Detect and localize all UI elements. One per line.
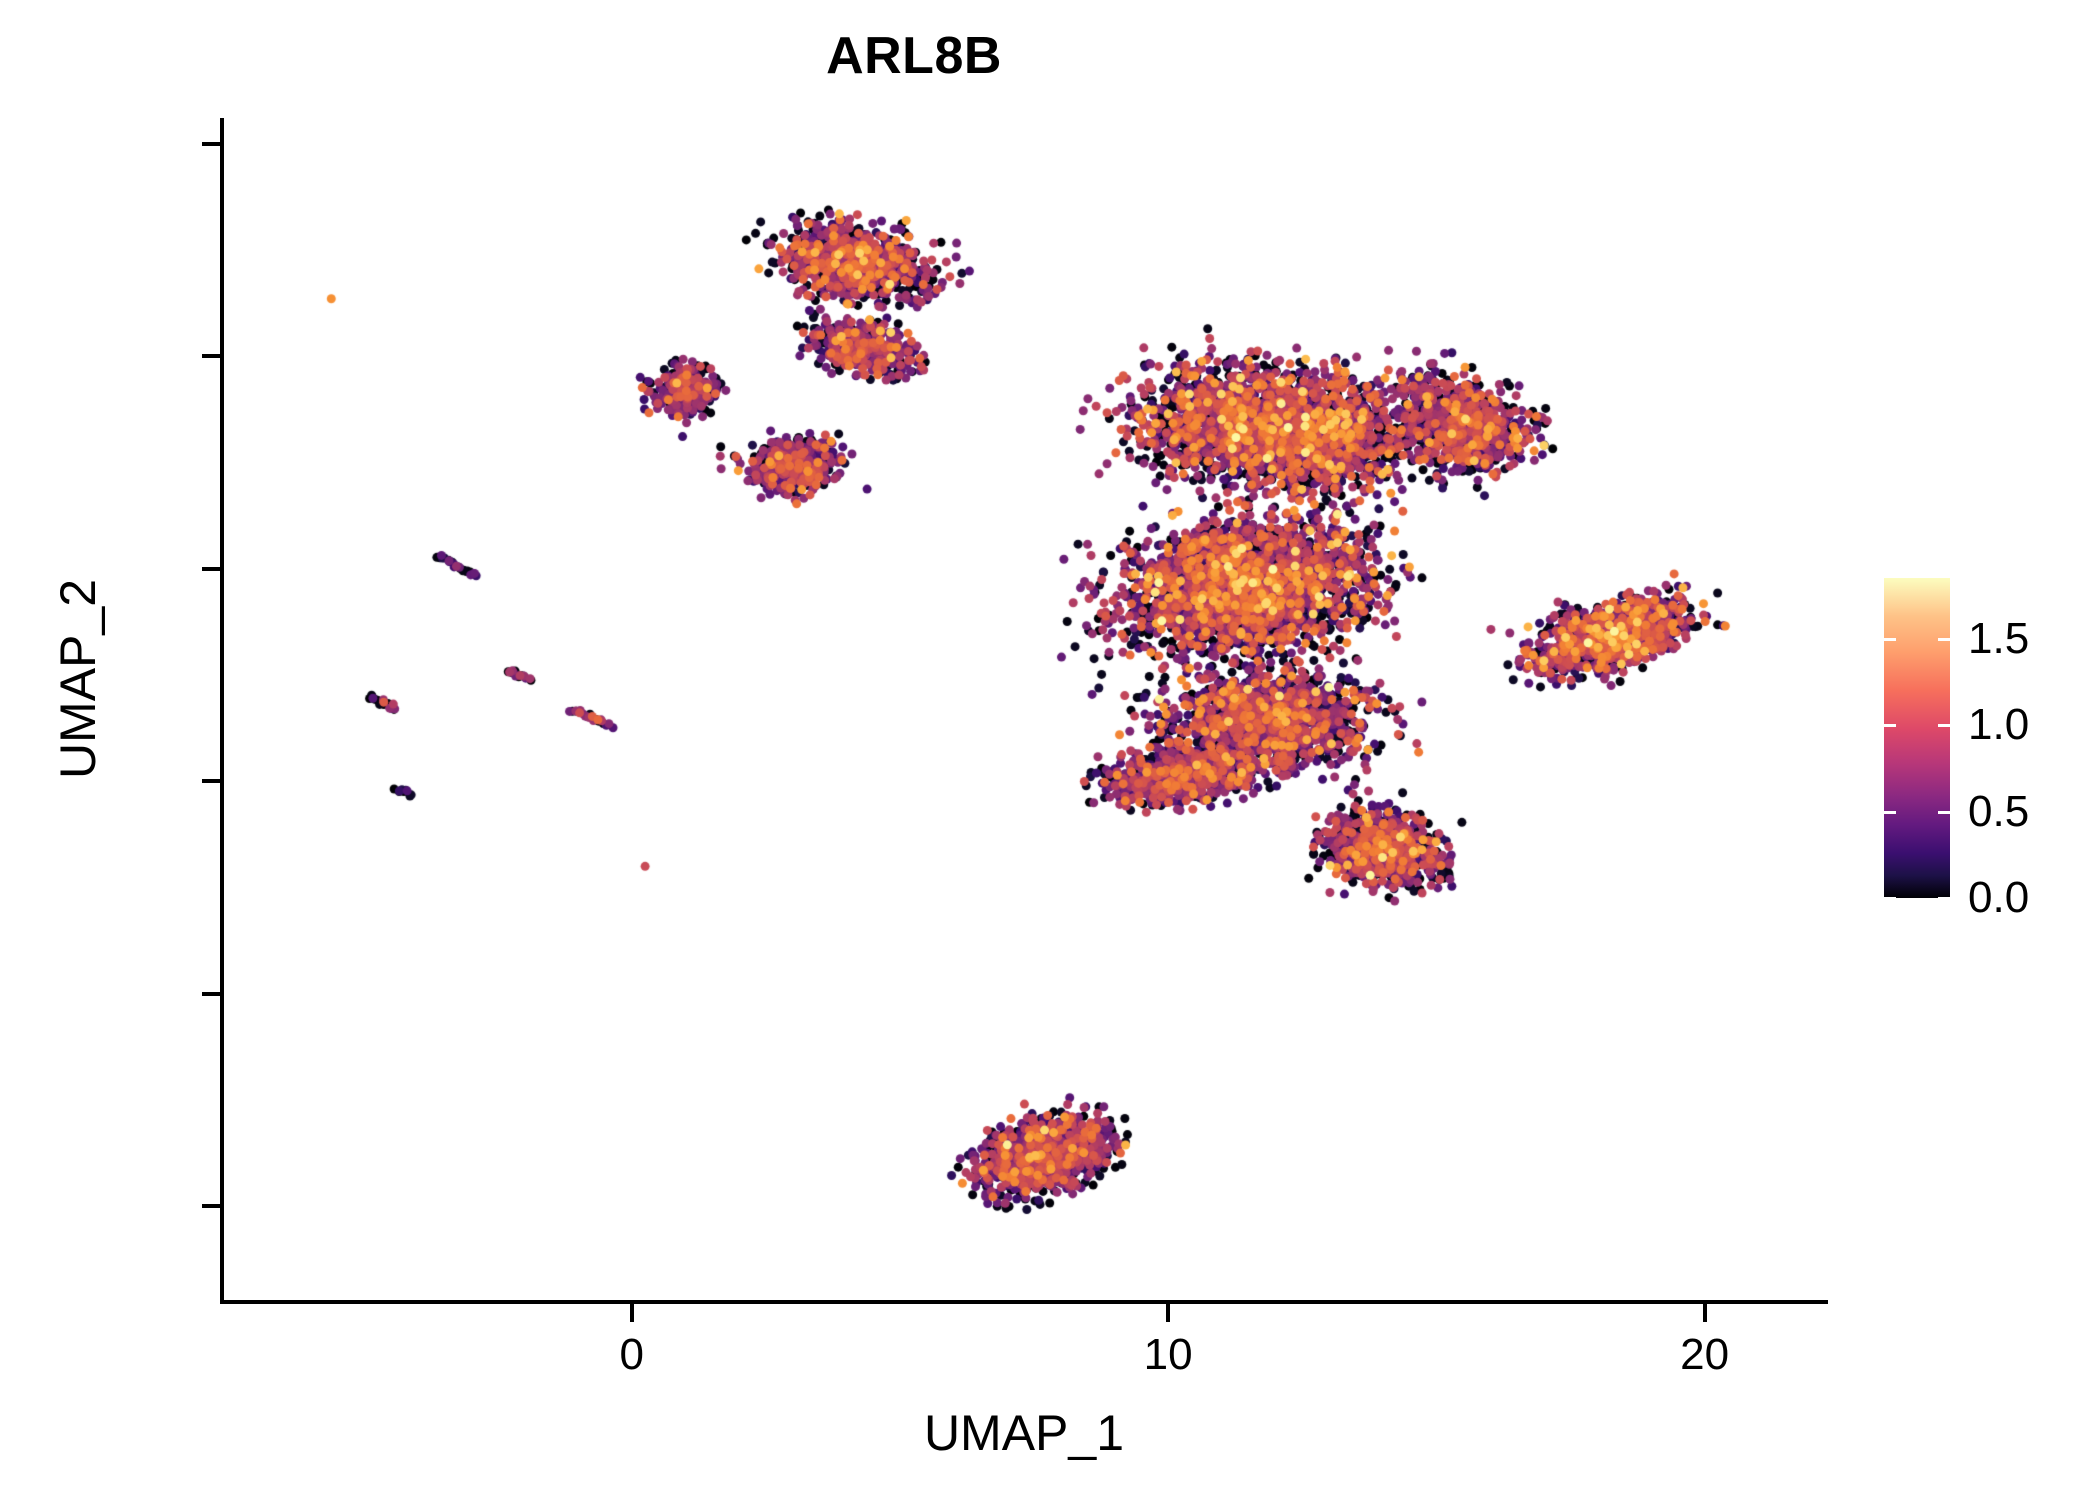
legend-tick-mark <box>1938 638 1950 641</box>
legend-tick-label: 0.0 <box>1968 873 2029 923</box>
scatter-points-layer <box>224 118 1828 1300</box>
x-tick-label: 10 <box>1144 1330 1193 1380</box>
scatter-plot-panel <box>224 118 1828 1300</box>
legend-tick-mark <box>1884 811 1896 814</box>
y-tick-mark <box>202 779 220 783</box>
legend-tick-label: 0.5 <box>1968 787 2029 837</box>
legend-colorbar <box>1884 578 1950 898</box>
x-tick-label: 20 <box>1680 1330 1729 1380</box>
x-tick-mark <box>1703 1304 1707 1322</box>
x-axis-line <box>220 1300 1828 1304</box>
legend-tick-mark <box>1884 897 1896 900</box>
legend-tick-label: 1.5 <box>1968 614 2029 664</box>
legend-tick-mark <box>1938 897 1950 900</box>
y-tick-mark <box>202 142 220 146</box>
legend-tick-mark <box>1884 724 1896 727</box>
y-tick-mark <box>202 567 220 571</box>
y-tick-mark <box>202 354 220 358</box>
legend-tick-mark <box>1884 638 1896 641</box>
page-title: ARL8B <box>0 26 1828 86</box>
y-axis-title: UMAP_2 <box>49 469 107 889</box>
x-tick-mark <box>1166 1304 1170 1322</box>
x-tick-label: 0 <box>619 1330 643 1380</box>
color-legend: 0.00.51.01.5 <box>1884 578 2084 903</box>
x-tick-mark <box>630 1304 634 1322</box>
x-axis-title: UMAP_1 <box>220 1404 1828 1462</box>
y-tick-mark <box>202 1204 220 1208</box>
legend-tick-mark <box>1938 811 1950 814</box>
legend-tick-mark <box>1938 724 1950 727</box>
y-axis-line <box>220 118 224 1304</box>
legend-tick-label: 1.0 <box>1968 700 2029 750</box>
y-tick-mark <box>202 992 220 996</box>
chart-page: ARL8B -10-5051015 01020 UMAP_2 UMAP_1 0.… <box>0 0 2100 1500</box>
